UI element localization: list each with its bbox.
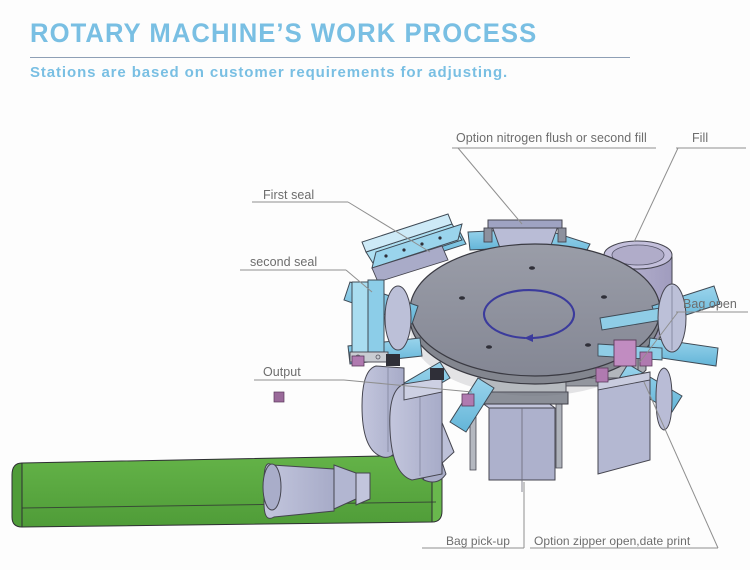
- callout-second-seal: second seal: [250, 255, 317, 269]
- rotary-machine-diagram: [0, 0, 750, 570]
- second-seal-station: [350, 280, 388, 362]
- callout-zipper-date-print: Option zipper open,date print: [534, 534, 690, 548]
- callout-fill: Fill: [692, 131, 708, 145]
- callout-output: Output: [263, 365, 301, 379]
- callout-bag-open: Bag open: [683, 297, 737, 311]
- callout-bag-pickup: Bag pick-up: [446, 534, 510, 548]
- callout-nitrogen-flush: Option nitrogen flush or second fill: [456, 131, 647, 145]
- callout-first-seal: First seal: [263, 188, 314, 202]
- diagram-page: ROTARY MACHINE’S WORK PROCESS Stations a…: [0, 0, 750, 570]
- outfeed-conveyor: [12, 455, 442, 527]
